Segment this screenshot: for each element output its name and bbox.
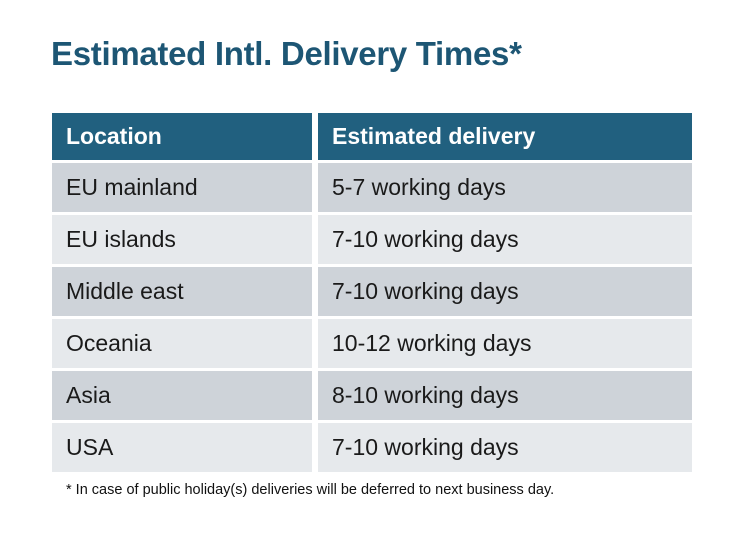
cell-estimated-delivery: 7-10 working days — [318, 215, 692, 264]
column-header-location: Location — [52, 113, 312, 160]
table-row: USA 7-10 working days — [52, 423, 692, 472]
table-row: Oceania 10-12 working days — [52, 319, 692, 368]
table-row: Asia 8-10 working days — [52, 371, 692, 420]
cell-location: EU islands — [52, 215, 312, 264]
delivery-times-table: Location Estimated delivery EU mainland … — [52, 113, 692, 472]
table-row: Middle east 7-10 working days — [52, 267, 692, 316]
cell-estimated-delivery: 8-10 working days — [318, 371, 692, 420]
cell-location: EU mainland — [52, 163, 312, 212]
cell-estimated-delivery: 7-10 working days — [318, 267, 692, 316]
table-header-row: Location Estimated delivery — [52, 113, 692, 160]
cell-location: Asia — [52, 371, 312, 420]
page-title: Estimated Intl. Delivery Times* — [51, 33, 522, 74]
cell-estimated-delivery: 7-10 working days — [318, 423, 692, 472]
column-header-estimated-delivery: Estimated delivery — [318, 113, 692, 160]
cell-estimated-delivery: 5-7 working days — [318, 163, 692, 212]
cell-estimated-delivery: 10-12 working days — [318, 319, 692, 368]
delivery-times-card: Estimated Intl. Delivery Times* Location… — [0, 0, 745, 536]
table-row: EU mainland 5-7 working days — [52, 163, 692, 212]
footnote: * In case of public holiday(s) deliverie… — [66, 481, 554, 500]
table-row: EU islands 7-10 working days — [52, 215, 692, 264]
cell-location: Oceania — [52, 319, 312, 368]
cell-location: USA — [52, 423, 312, 472]
cell-location: Middle east — [52, 267, 312, 316]
